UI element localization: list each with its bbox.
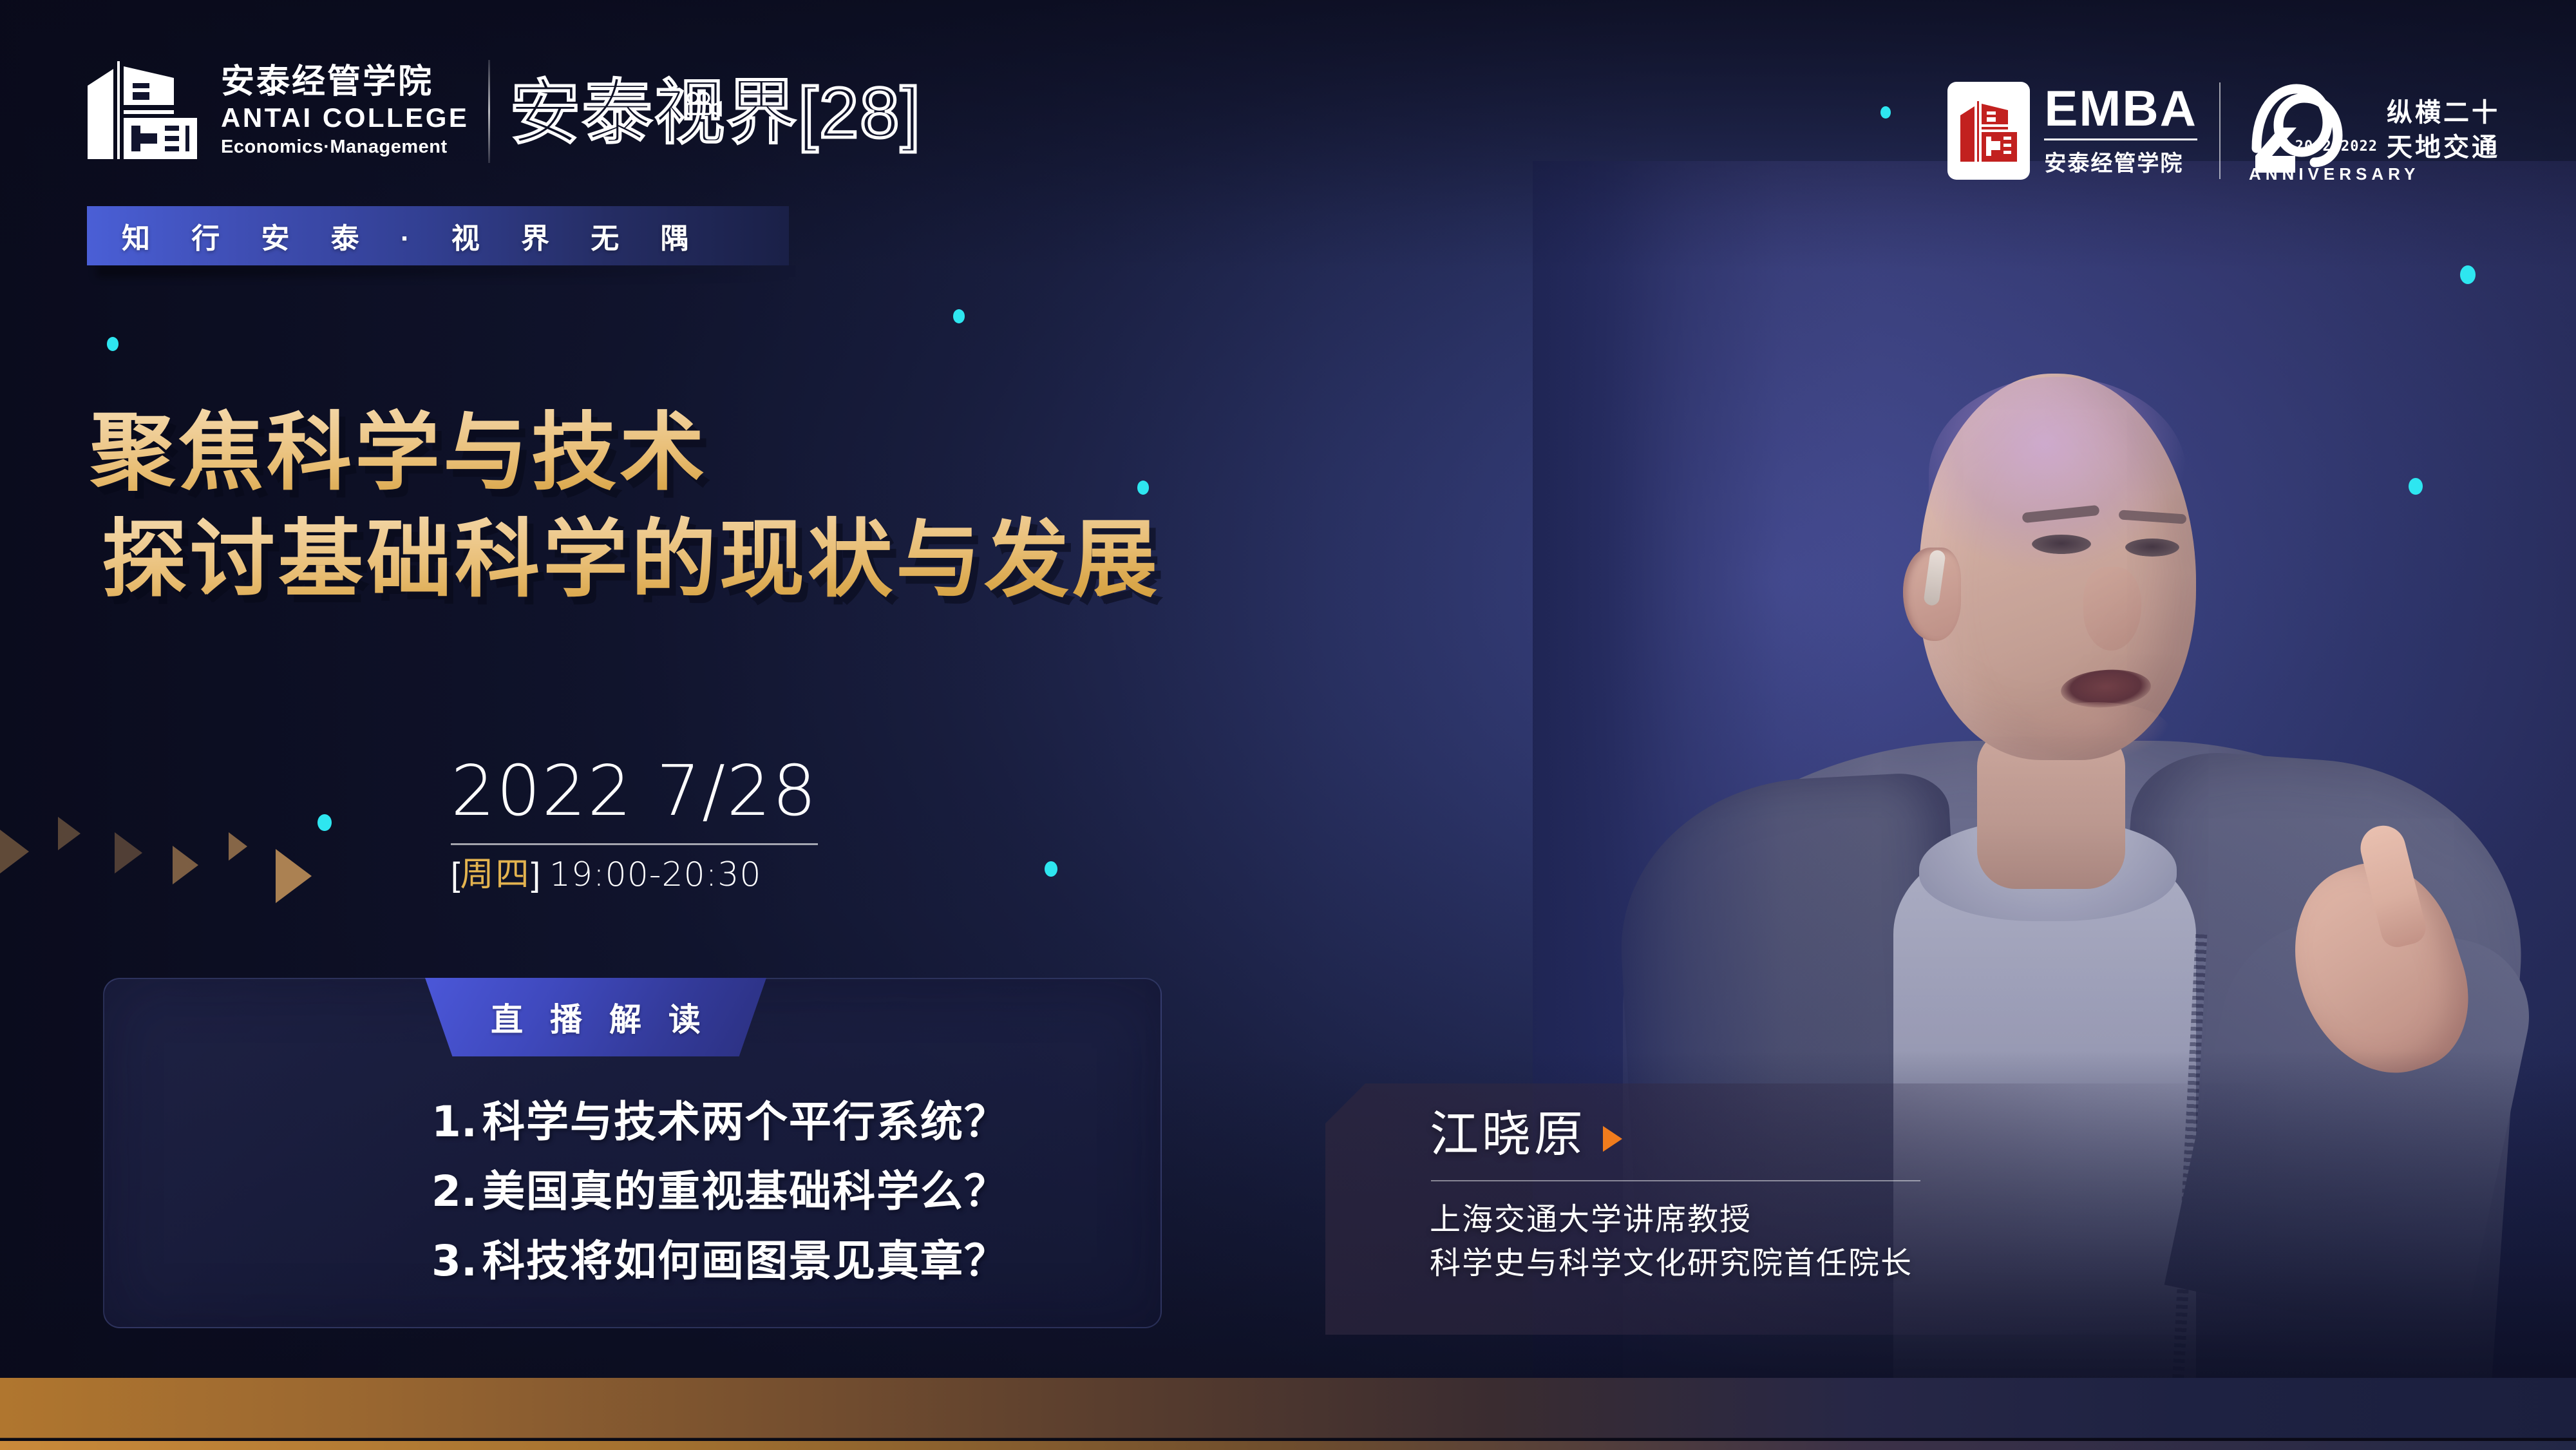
event-date: 2022 7/28: [451, 757, 818, 826]
gold-triangle-icon: [276, 849, 312, 903]
college-subtitle-en: Economics·Management: [221, 135, 469, 160]
list-item-number: 1.: [431, 1097, 477, 1147]
orange-play-triangle-icon: [1603, 1126, 1622, 1152]
college-name-cn: 安泰经管学院: [221, 63, 469, 102]
page-title-line1: 聚焦科学与技术: [90, 399, 1160, 506]
accent-dot: [1045, 861, 1057, 877]
agenda-list: 1.科学与技术两个平行系统？ 2.美国真的重视基础科学么？ 3.科技将如何画图景…: [406, 1087, 1008, 1296]
twenty-infinity-icon: 2002-2022 ANNIVERSARY: [2242, 76, 2371, 186]
emba-anniversary-group: EMBA 安泰经管学院 2002-2022 ANNIVERSARY 纵横二十 天…: [1947, 76, 2500, 186]
emba-wordmark: EMBA 安泰经管学院: [2044, 84, 2197, 177]
bracket-close: ]: [531, 856, 540, 893]
anniversary-slogan: 纵横二十 天地交通: [2387, 96, 2500, 165]
list-item-text: 科学与技术两个平行系统？: [482, 1098, 1008, 1145]
page-title-line2: 探讨基础科学的现状与发展: [102, 506, 1160, 613]
accent-dot: [2460, 265, 2476, 284]
acem-wordmark: 安泰经管学院 ANTAI COLLEGE Economics·Managemen…: [221, 63, 469, 160]
event-time: 19:00-20:30: [549, 855, 761, 894]
status-badge: 直 播 解 读: [425, 978, 766, 1056]
bottom-accent-bar: [0, 1378, 2576, 1438]
event-time-row: [周四]19:00-20:30: [451, 857, 818, 893]
acem-red-building-icon: [1947, 82, 2030, 180]
bottom-gold-line: [0, 1441, 2576, 1450]
accent-dot: [1880, 106, 1891, 119]
slogan-text: 知 行 安 泰 · 视 界 无 隅: [122, 215, 705, 256]
list-item-text: 科技将如何画图景见真章？: [482, 1237, 1008, 1284]
gold-triangle-icon: [115, 832, 142, 873]
emba-anniversary-divider: [2219, 82, 2221, 179]
list-item: 1.科学与技术两个平行系统？: [431, 1087, 1008, 1157]
bracket-open: [: [451, 856, 460, 893]
slogan-banner: 知 行 安 泰 · 视 界 无 隅: [87, 206, 789, 265]
gold-triangle-icon: [58, 817, 80, 850]
anniversary-word: ANNIVERSARY: [2249, 164, 2420, 184]
slogan-shadow: [97, 265, 799, 277]
speaker-name-row: 江晓原: [1430, 1111, 1920, 1159]
college-name-en: ANTAI COLLEGE: [221, 101, 469, 135]
speaker-info-panel: 江晓原 上海交通大学讲席教授 科学史与科学文化研究院首任院长: [1325, 1083, 2291, 1335]
emba-divider: [2044, 138, 2197, 140]
list-item-text: 美国真的重视基础科学么？: [482, 1167, 1008, 1215]
acem-building-logo-icon: [84, 55, 203, 167]
emba-college-cn: 安泰经管学院: [2044, 146, 2197, 177]
anniversary-years: 2002-2022: [2295, 138, 2378, 155]
status-badge-label: 直 播 解 读: [482, 994, 710, 1040]
accent-dot: [107, 337, 118, 351]
anniversary-slogan-line2: 天地交通: [2387, 131, 2500, 166]
gold-triangle-icon: [173, 846, 198, 884]
speaker-title-line2: 科学史与科学文化研究院首任院长: [1430, 1242, 1920, 1286]
list-item: 3.科技将如何画图景见真章？: [431, 1226, 1008, 1296]
gold-triangle-icon: [0, 830, 29, 873]
event-date-block: 2022 7/28 [周四]19:00-20:30: [451, 757, 818, 893]
list-item: 2.美国真的重视基础科学么？: [431, 1157, 1008, 1226]
event-weekday: 周四: [460, 856, 531, 893]
page-title: 聚焦科学与技术 探讨基础科学的现状与发展: [90, 399, 1160, 614]
speaker-divider: [1431, 1180, 1920, 1181]
anniversary-group: 2002-2022 ANNIVERSARY 纵横二十 天地交通: [2242, 76, 2500, 186]
anniversary-slogan-line1: 纵横二十: [2387, 96, 2500, 131]
header-brand: 安泰经管学院 ANTAI COLLEGE Economics·Managemen…: [84, 55, 922, 167]
date-divider: [451, 843, 818, 845]
poster-canvas: 安泰经管学院 ANTAI COLLEGE Economics·Managemen…: [0, 0, 2576, 1450]
show-title: 安泰视界[28]: [509, 74, 921, 149]
list-item-number: 2.: [431, 1167, 477, 1216]
speaker-title-line1: 上海交通大学讲席教授: [1430, 1198, 1920, 1242]
accent-dot: [1137, 481, 1149, 495]
header-divider: [488, 60, 490, 163]
video-camera-icon: [685, 57, 724, 128]
emba-label: EMBA: [2044, 84, 2197, 132]
accent-dot: [953, 309, 965, 323]
gold-triangle-icon: [229, 832, 247, 861]
speaker-name: 江晓原: [1430, 1111, 1586, 1159]
list-item-number: 3.: [431, 1236, 477, 1286]
